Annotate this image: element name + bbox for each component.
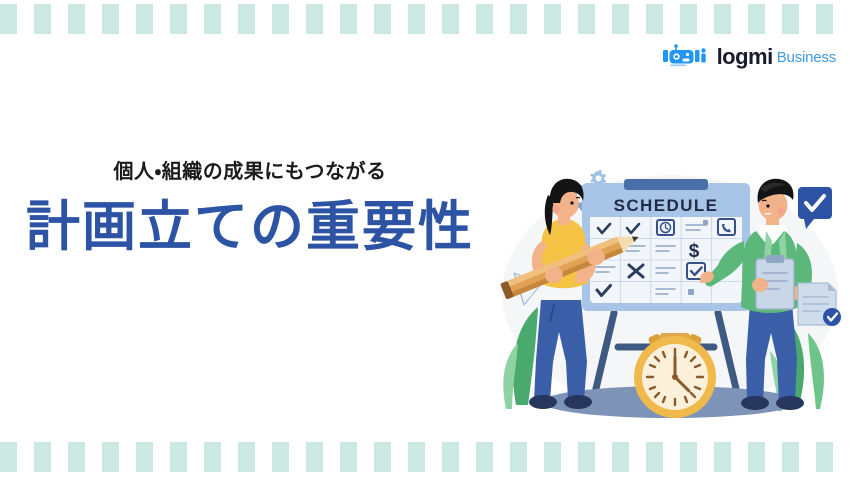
square-icon [703,220,708,225]
logmi-business-logo[interactable]: logmi Business [663,44,836,68]
document-with-check [798,283,841,326]
page-title: 計画立ての重要性 [0,196,500,258]
logo-sub-wordmark: Business [777,50,836,65]
headline-block: 個人・組織の成果にもつながる 計画立ての重要性 [0,160,500,258]
robot-head-icon [663,44,713,68]
square-icon [688,289,694,295]
dollar-icon: $ [689,241,700,262]
board-title: SCHEDULE [614,196,719,215]
logo-wordmark: logmi [717,46,773,68]
bottom-stripe-band [0,442,850,472]
slide-root: logmi Business 個人・組織の成果にもつながる 計画立ての重要性 [0,0,850,478]
board-top-bar [624,179,708,190]
schedule-planning-illustration: SCHEDULE [498,165,843,425]
eyebrow-text: 個人・組織の成果にもつながる [0,160,500,184]
top-stripe-band [0,4,850,34]
calendar-grid: $ [590,217,742,303]
